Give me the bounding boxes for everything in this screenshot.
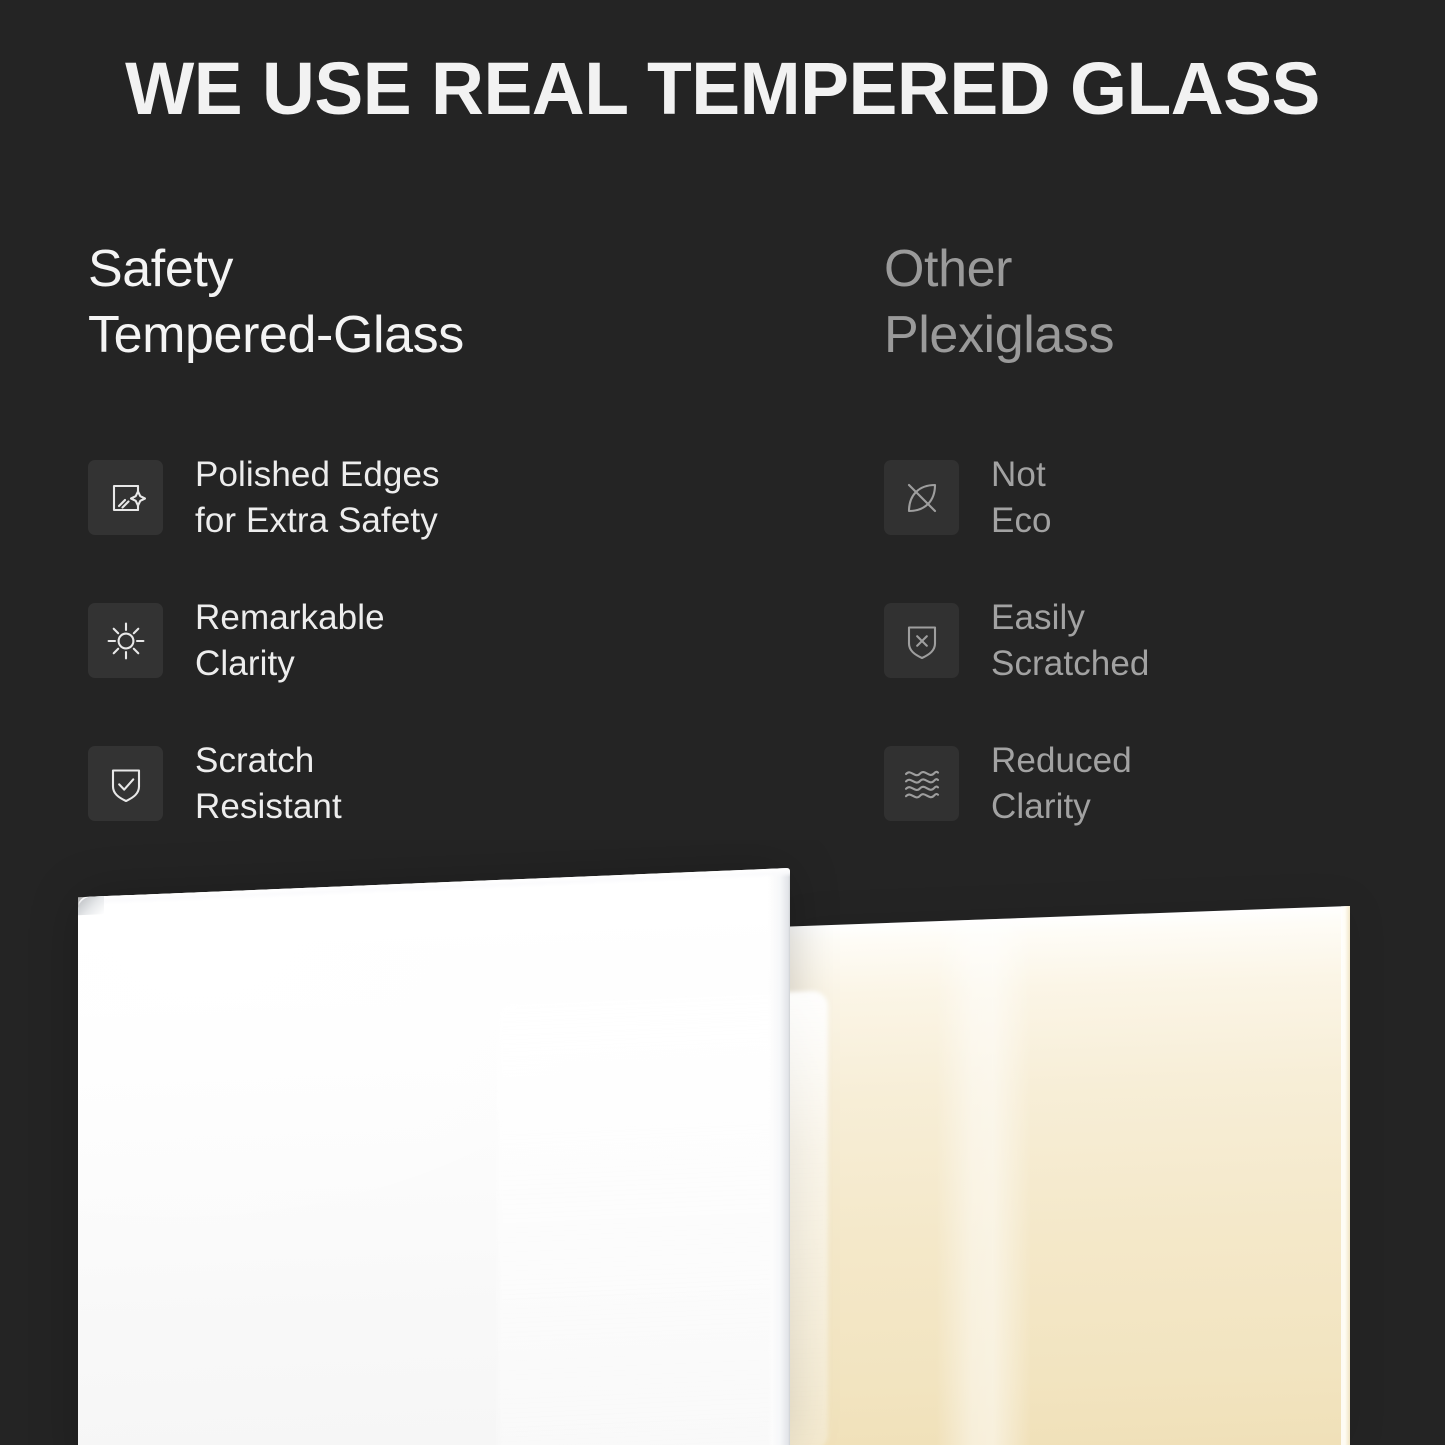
feature-item-scratch-resistant: Scratch Resistant	[88, 732, 708, 835]
feature-item-not-eco: Not Eco	[884, 446, 1404, 549]
glass-corner-bevel	[78, 896, 104, 915]
sun-clarity-icon	[88, 603, 163, 678]
shield-check-icon	[88, 746, 163, 821]
feature-item-polished-edges: Polished Edges for Extra Safety	[88, 446, 708, 549]
wavy-lines-icon	[884, 746, 959, 821]
feature-label: Scratch Resistant	[195, 738, 342, 830]
plexi-sheen	[936, 918, 1031, 1445]
feature-label: Easily Scratched	[991, 595, 1150, 687]
feature-list-plexiglass: Not Eco Easily Scratched	[884, 446, 1404, 835]
tempered-glass-panel: clear white	[78, 868, 790, 1445]
feature-label: Polished Edges for Extra Safety	[195, 452, 440, 544]
column-tempered-glass: Safety Tempered-Glass Polished Edges for…	[88, 236, 708, 835]
glass-edge-thickness	[768, 868, 790, 1445]
column-heading-plexiglass: Other Plexiglass	[884, 236, 1404, 368]
feature-item-easily-scratched: Easily Scratched	[884, 589, 1404, 692]
feature-label: Reduced Clarity	[991, 738, 1132, 830]
leaf-crossed-out-icon	[884, 460, 959, 535]
glass-panels-illustration: yellowed cream clear white	[0, 840, 1445, 1445]
plexiglass-panel: yellowed cream	[790, 906, 1350, 1445]
column-plexiglass: Other Plexiglass Not Eco	[884, 236, 1404, 835]
polished-edges-icon	[88, 460, 163, 535]
feature-label: Not Eco	[991, 452, 1052, 544]
shield-x-icon	[884, 603, 959, 678]
feature-item-reduced-clarity: Reduced Clarity	[884, 732, 1404, 835]
product-comparison-graphic: WE USE REAL TEMPERED GLASS Safety Temper…	[0, 0, 1445, 1445]
plexi-right-edge	[1341, 906, 1350, 1445]
feature-label: Remarkable Clarity	[195, 595, 385, 687]
feature-item-remarkable-clarity: Remarkable Clarity	[88, 589, 708, 692]
feature-list-tempered-glass: Polished Edges for Extra Safety	[88, 446, 708, 835]
column-heading-tempered-glass: Safety Tempered-Glass	[88, 236, 708, 368]
page-title: WE USE REAL TEMPERED GLASS	[7, 44, 1438, 134]
